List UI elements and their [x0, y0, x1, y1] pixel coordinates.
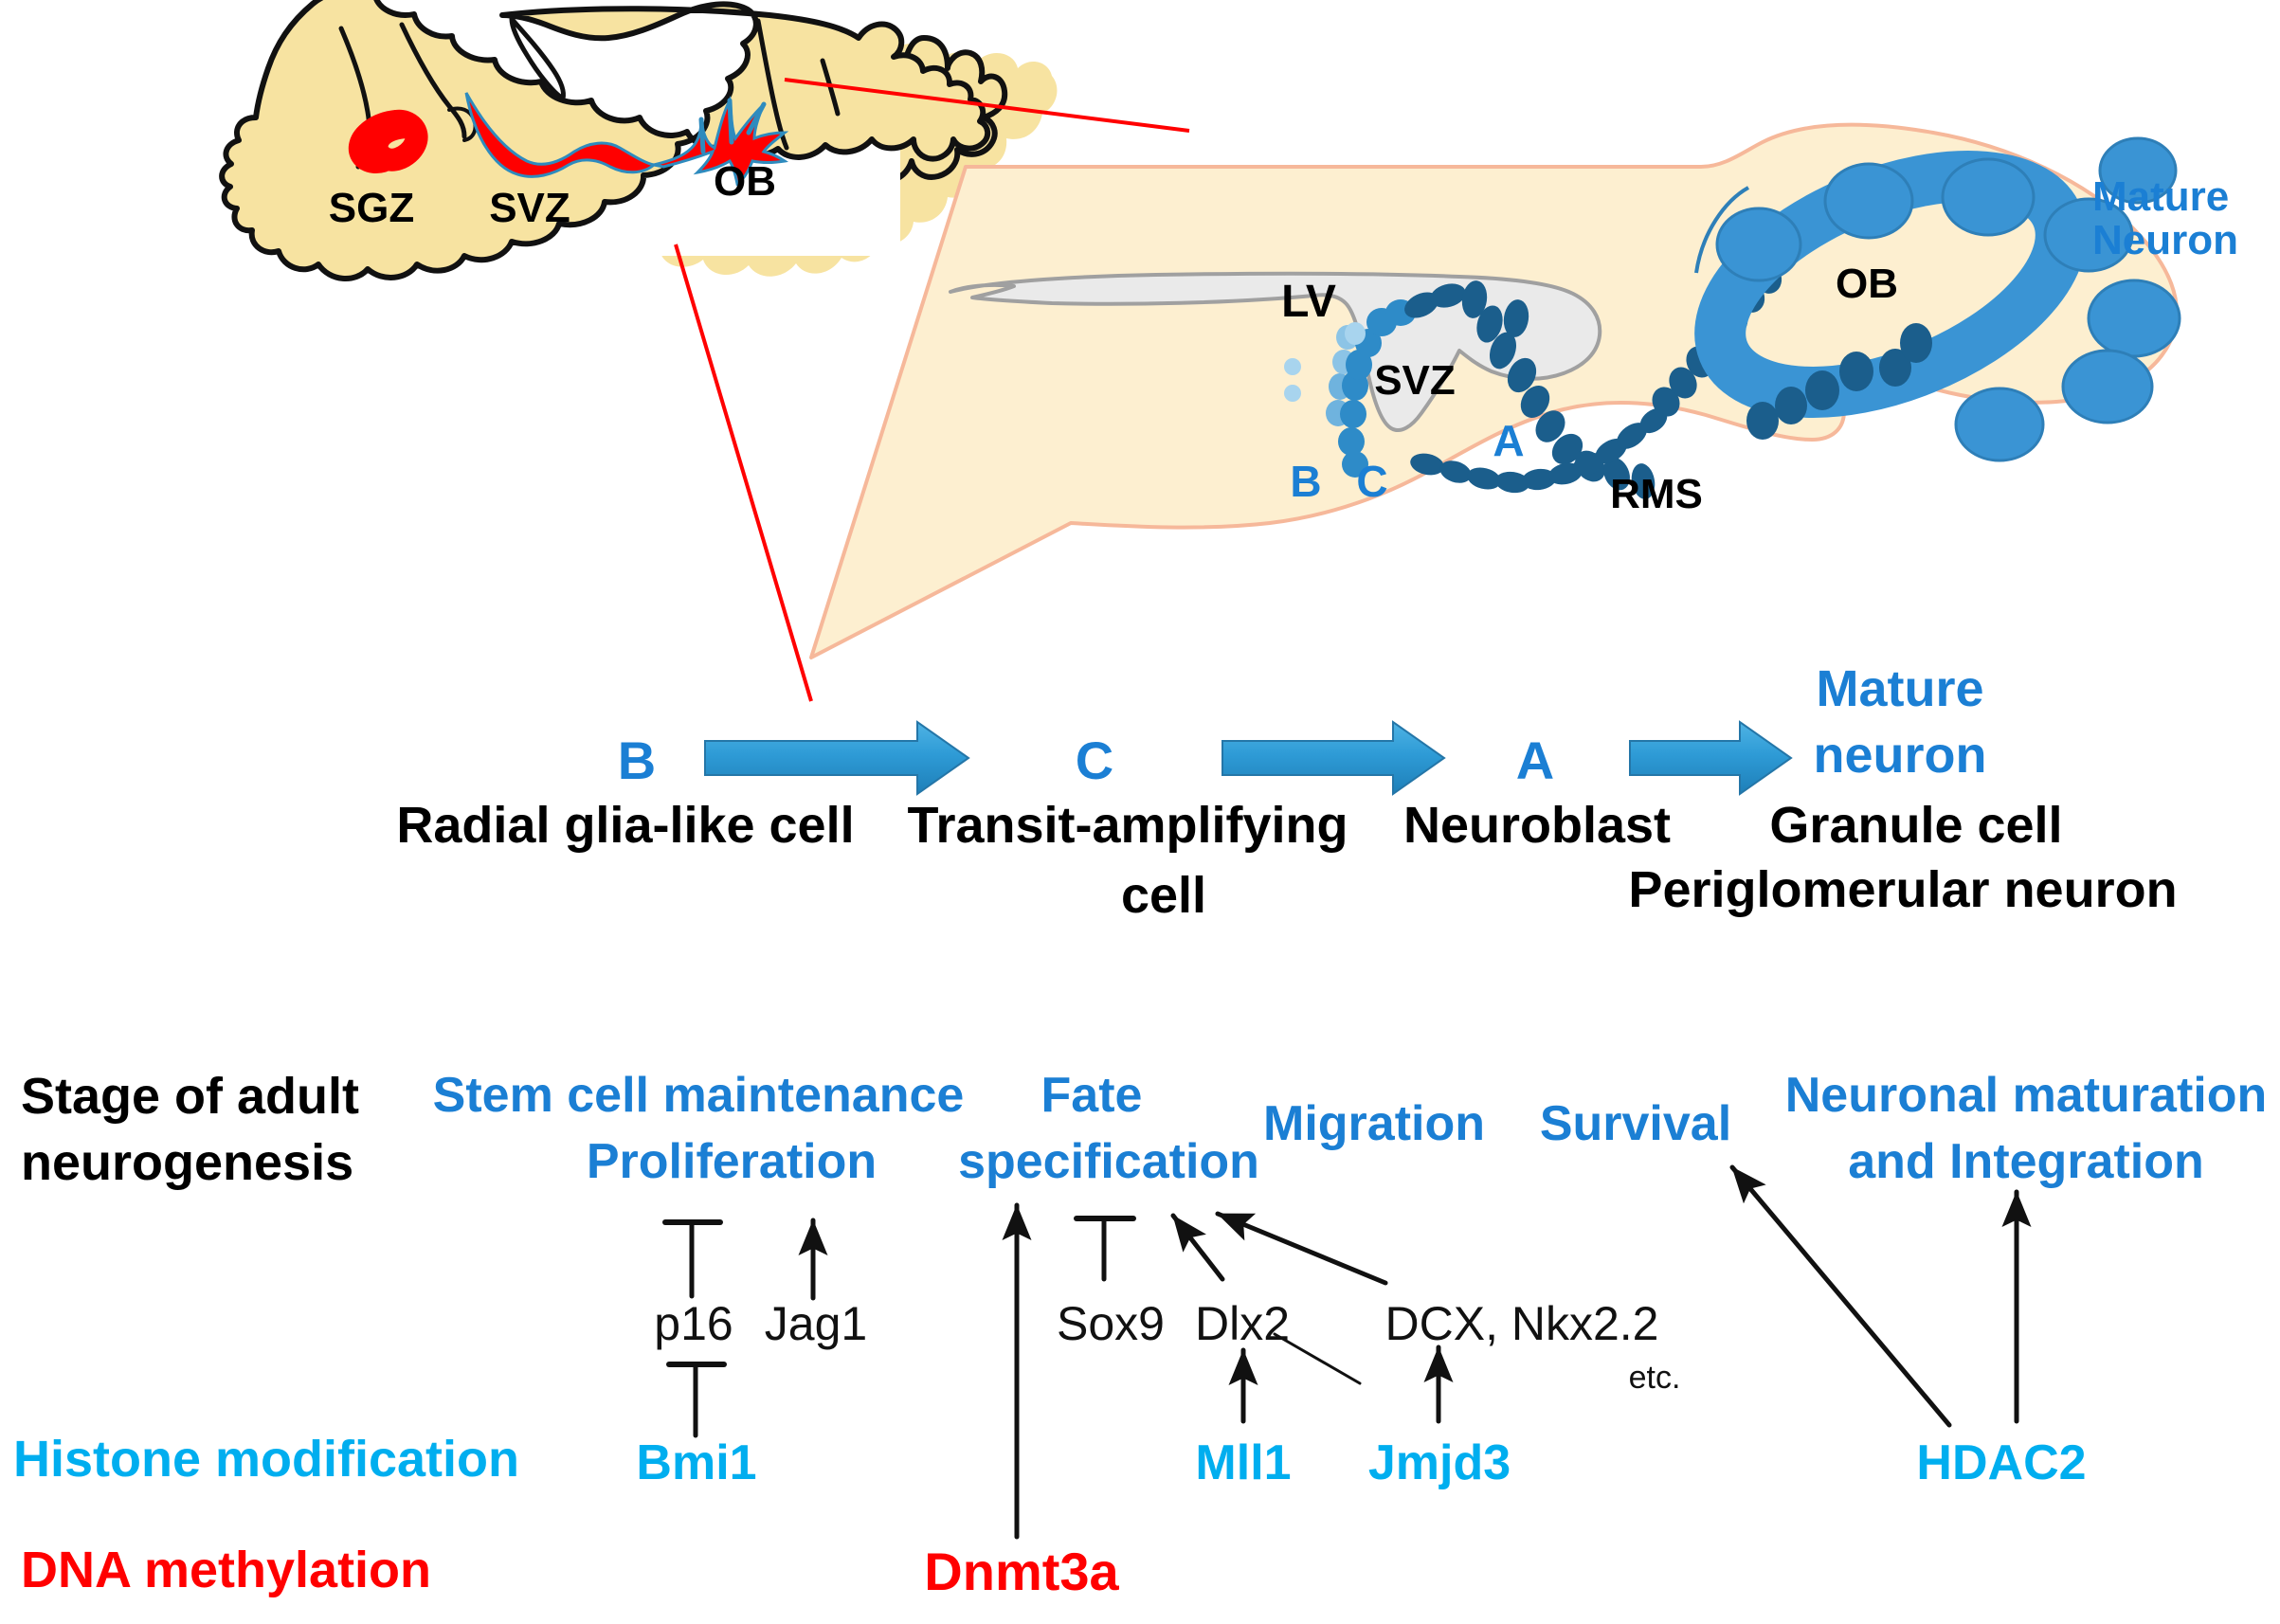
lineage-name-c-line1: Transit-amplifying	[907, 800, 1348, 852]
label-lv: LV	[1281, 280, 1336, 326]
lineage-arrow-2	[1222, 722, 1444, 794]
label-cell-b: B	[1290, 460, 1321, 504]
target-sox9: Sox9	[1057, 1300, 1165, 1348]
lineage-code-mature-line1: Mature	[1816, 663, 1983, 715]
label-zoom-ob: OB	[1836, 263, 1898, 306]
stage-stem-cell-maintenance: Stem cell maintenance	[433, 1071, 965, 1121]
stage-proliferation: Proliferation	[587, 1137, 877, 1187]
target-dlx2: Dlx2	[1195, 1300, 1290, 1348]
lineage-arrows	[705, 722, 1791, 794]
stage-neuronal-maturation: Neuronal maturation	[1785, 1071, 2268, 1121]
lineage-name-a: Neuroblast	[1403, 800, 1671, 852]
lineage-name-mature-line1: Granule cell	[1769, 800, 2062, 852]
lineage-name-c-line2: cell	[1121, 870, 1206, 922]
label-zoom-svz: SVZ	[1374, 360, 1456, 403]
stage-row-label-line2: neurogenesis	[21, 1137, 353, 1189]
pointer-line-svz	[676, 244, 811, 701]
stage-row-label-line1: Stage of adult	[21, 1071, 359, 1123]
factor-dnmt3a: Dnmt3a	[924, 1544, 1118, 1598]
lineage-name-b: Radial glia-like cell	[396, 800, 854, 852]
arrow-dcx-to-migration	[1218, 1214, 1385, 1283]
tbar-p16-to-stemcell	[665, 1222, 720, 1296]
label-mature-neuron-line2: Neuron	[2092, 220, 2238, 262]
target-dcx-nkx: DCX, Nkx2.2	[1385, 1300, 1659, 1348]
label-cell-c: C	[1356, 460, 1387, 504]
factor-mll1: Mll1	[1195, 1438, 1291, 1489]
lineage-arrow-1	[705, 722, 968, 794]
mechanism-label-histone: Histone modification	[13, 1434, 519, 1486]
tbar-bmi1-to-p16	[669, 1364, 724, 1435]
zoom-panel	[811, 125, 2180, 658]
lineage-arrow-3	[1630, 722, 1791, 794]
target-jag1: Jag1	[765, 1300, 867, 1348]
stage-migration: Migration	[1263, 1099, 1485, 1149]
label-rms: RMS	[1610, 474, 1703, 516]
mechanism-label-dna: DNA methylation	[21, 1544, 431, 1597]
label-svz: SVZ	[489, 188, 570, 230]
adult-neurogenesis-figure: SGZ SVZ OB LV SVZ B C A RMS OB Mature Ne…	[0, 0, 2280, 1624]
stage-specification: specification	[958, 1137, 1259, 1187]
arrow-hdac2-to-survival	[1732, 1167, 1949, 1425]
factor-bmi1: Bmi1	[636, 1438, 756, 1489]
arrow-dlx2-to-fate	[1173, 1216, 1222, 1279]
stage-fate: Fate	[1041, 1071, 1143, 1121]
label-sgz: SGZ	[329, 188, 414, 230]
lineage-code-a: A	[1516, 733, 1554, 787]
label-cell-a: A	[1493, 419, 1524, 463]
lineage-code-b: B	[618, 733, 656, 787]
stage-survival: Survival	[1540, 1099, 1731, 1149]
lineage-name-mature-line2: Periglomerular neuron	[1628, 864, 2177, 916]
target-p16: p16	[654, 1300, 733, 1348]
lineage-code-mature-line2: neuron	[1814, 730, 1987, 782]
target-etc: etc.	[1629, 1362, 1681, 1395]
factor-jmjd3: Jmjd3	[1368, 1438, 1511, 1489]
factor-hdac2: HDAC2	[1916, 1438, 2086, 1489]
tbar-sox9-to-fate	[1077, 1218, 1133, 1279]
label-ob: OB	[714, 161, 776, 204]
lineage-code-c: C	[1076, 733, 1113, 787]
label-mature-neuron-line1: Mature	[2092, 176, 2229, 219]
regulation-connectors	[665, 1167, 2017, 1537]
stage-and-integration: and Integration	[1848, 1137, 2204, 1187]
